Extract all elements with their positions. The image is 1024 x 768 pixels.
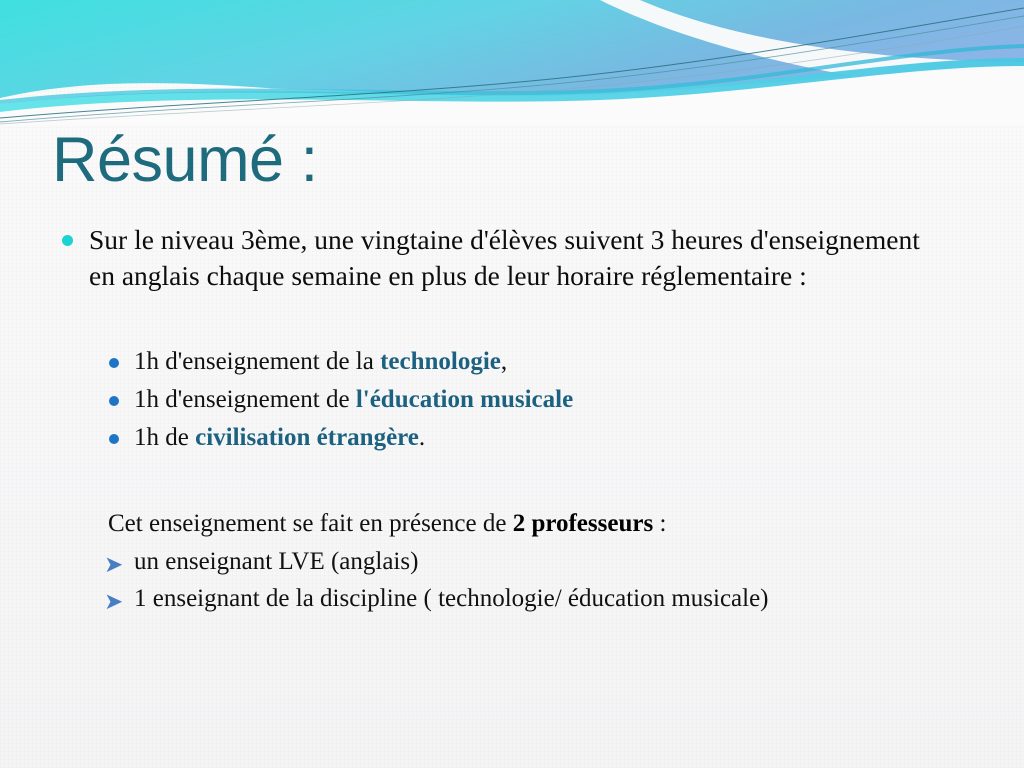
page-title: Résumé : [52,124,318,196]
teachers-list: ➤ un enseignant LVE (anglais) ➤ 1 enseig… [0,543,1024,617]
list-item: ➤ un enseignant LVE (anglais) [0,543,1024,580]
slide-canvas: Résumé : Sur le niveau 3ème, une vingtai… [0,0,1024,768]
list-item-prefix: 1h d'enseignement de la [134,348,380,375]
list-item-label: 1 enseignant de la discipline ( technolo… [134,585,769,612]
list-item: ➤ 1 enseignant de la discipline ( techno… [0,580,1024,617]
teachers-intro-bold: 2 professeurs [513,510,654,537]
intro-text: Sur le niveau 3ème, une vingtaine d'élèv… [89,224,920,291]
teachers-intro-prefix: Cet enseignement se fait en présence de [108,510,513,537]
bullet-dot-icon [109,434,119,444]
list-item-label: un enseignant LVE (anglais) [134,548,418,575]
list-item: 1h d'enseignement de l'éducation musical… [0,381,1024,419]
wave-shape-primary [0,0,1024,107]
wave-line-3 [0,26,1024,124]
sub-bullet-list: 1h d'enseignement de la technologie, 1h … [0,343,1024,457]
list-item-suffix: , [501,348,507,375]
bullet-dot-icon [62,235,73,246]
wave-shape-band-2 [0,44,1024,104]
intro-bullet: Sur le niveau 3ème, une vingtaine d'élèv… [0,222,1024,293]
list-item-prefix: 1h d'enseignement de [134,386,356,413]
wave-line-2 [0,16,1024,122]
teachers-intro-line: Cet enseignement se fait en présence de … [0,505,1024,543]
teachers-intro-suffix: : [653,510,666,537]
list-item-highlight: l'éducation musicale [356,386,573,413]
bullet-dot-icon [109,396,119,406]
wave-shape-base [0,70,1024,125]
list-item: 1h d'enseignement de la technologie, [0,343,1024,381]
decorative-wave-banner [0,0,1024,125]
arrow-bullet-icon: ➤ [104,546,123,583]
wave-line-1 [0,8,1024,118]
list-item-prefix: 1h de [134,424,195,451]
wave-shape-white [600,0,1024,96]
list-item: 1h de civilisation étrangère. [0,419,1024,457]
list-item-suffix: . [419,424,425,451]
slide-body: Sur le niveau 3ème, une vingtaine d'élèv… [0,222,1024,617]
bullet-dot-icon [109,358,119,368]
wave-shape-band [0,58,1024,112]
list-item-highlight: technologie [380,348,501,375]
arrow-bullet-icon: ➤ [104,583,123,620]
list-item-highlight: civilisation étrangère [195,424,419,451]
wave-graphic [0,0,1024,125]
